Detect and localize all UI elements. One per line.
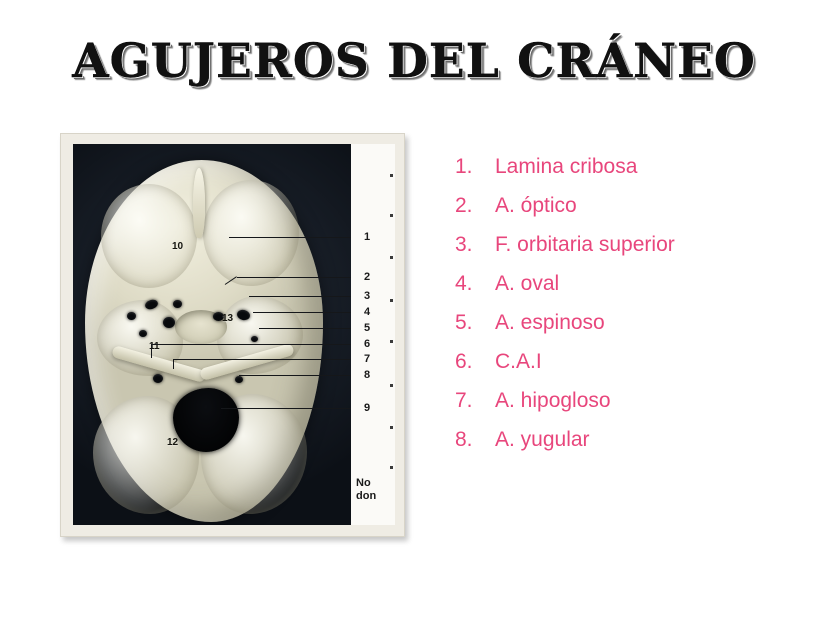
foramen-6	[251, 336, 258, 342]
list-item-number: 6.	[455, 350, 495, 374]
skull-base-specimen: 10 11 12 13	[77, 150, 329, 525]
photo-credit-note: No don	[356, 477, 376, 503]
strip-number-3: 3	[364, 291, 370, 302]
list-item-number: 7.	[455, 389, 495, 413]
list-item-label: A. yugular	[495, 428, 590, 452]
slide-canvas: AGUJEROS DEL CRÁNEO	[0, 0, 828, 621]
list-item-number: 4.	[455, 272, 495, 296]
foramen-10	[235, 376, 243, 383]
strip-number-8: 8	[364, 370, 370, 381]
strip-number-5: 5	[364, 323, 370, 334]
list-item-label: C.A.I	[495, 350, 542, 374]
photo-number-strip: 1 2 3 4 5 6 7 8 9 No don	[351, 144, 395, 525]
foramina-list: 1. Lamina cribosa 2. A. óptico 3. F. orb…	[455, 155, 805, 467]
leader-line-6-stem	[151, 344, 152, 358]
list-item[interactable]: 3. F. orbitaria superior	[455, 233, 805, 272]
leader-line-7-stem	[173, 359, 174, 369]
leader-line-3	[249, 296, 353, 297]
photo-credit-line-2: don	[356, 490, 376, 503]
list-item-label: A. hipogloso	[495, 389, 611, 413]
list-item[interactable]: 5. A. espinoso	[455, 311, 805, 350]
bone-number-10: 10	[172, 242, 183, 252]
strip-number-2: 2	[364, 272, 370, 283]
skull-photo-frame[interactable]: 10 11 12 13	[60, 133, 405, 537]
photo-credit-line-1: No	[356, 477, 376, 490]
bone-number-12: 12	[167, 438, 178, 448]
leader-line-8	[239, 375, 353, 376]
list-item-label: A. espinoso	[495, 311, 605, 335]
list-item-number: 8.	[455, 428, 495, 452]
strip-number-6: 6	[364, 339, 370, 350]
list-item-label: F. orbitaria superior	[495, 233, 675, 257]
list-item[interactable]: 7. A. hipogloso	[455, 389, 805, 428]
anterior-fossa-right	[203, 180, 299, 286]
strip-number-1: 1	[364, 232, 370, 243]
list-item-number: 2.	[455, 194, 495, 218]
list-item-label: A. oval	[495, 272, 559, 296]
foramen-7	[139, 330, 147, 337]
list-item-label: Lamina cribosa	[495, 155, 637, 179]
leader-line-2	[237, 277, 353, 278]
crista-galli	[193, 168, 205, 238]
foramen-9	[153, 374, 163, 383]
foramen-3	[163, 317, 175, 328]
list-item-label: A. óptico	[495, 194, 577, 218]
foramen-8	[173, 300, 182, 308]
bone-number-13: 13	[222, 314, 233, 324]
list-item-number: 1.	[455, 155, 495, 179]
leader-line-9	[221, 408, 353, 409]
list-item-number: 5.	[455, 311, 495, 335]
page-title: AGUJEROS DEL CRÁNEO	[0, 34, 828, 90]
strip-number-9: 9	[364, 403, 370, 414]
anterior-fossa-left	[101, 184, 197, 288]
skull-photo: 10 11 12 13	[73, 144, 395, 525]
leader-line-7	[173, 359, 353, 360]
foramen-2	[127, 312, 136, 320]
strip-number-4: 4	[364, 307, 370, 318]
leader-line-4	[253, 312, 353, 313]
list-item-number: 3.	[455, 233, 495, 257]
strip-number-7: 7	[364, 354, 370, 365]
list-item[interactable]: 2. A. óptico	[455, 194, 805, 233]
list-item[interactable]: 6. C.A.I	[455, 350, 805, 389]
list-item[interactable]: 1. Lamina cribosa	[455, 155, 805, 194]
list-item[interactable]: 8. A. yugular	[455, 428, 805, 467]
leader-line-5	[259, 328, 353, 329]
list-item[interactable]: 4. A. oval	[455, 272, 805, 311]
leader-line-1	[229, 237, 353, 238]
leader-line-6	[151, 344, 353, 345]
